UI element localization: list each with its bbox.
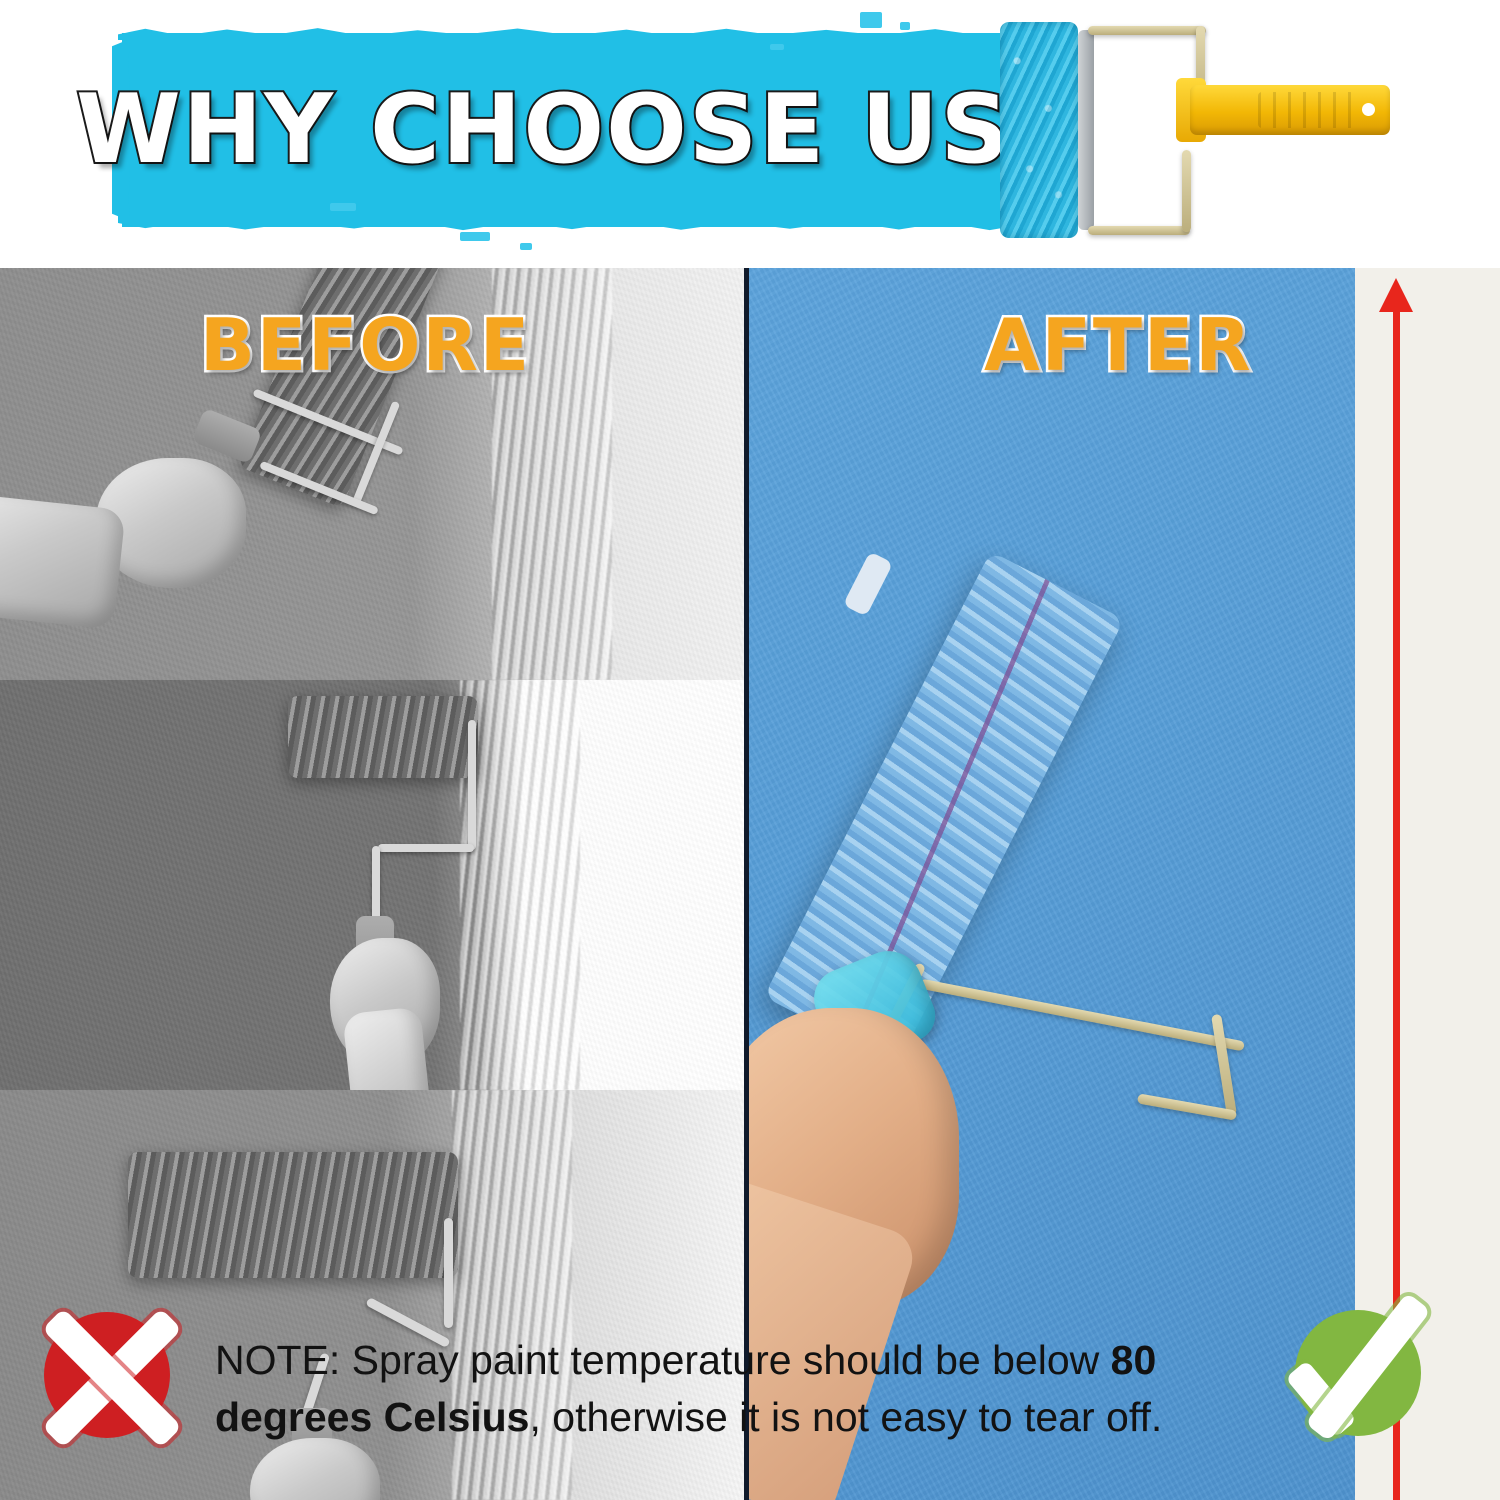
- red-x-mark-icon: [32, 1300, 182, 1450]
- paint-roller-cap: [1078, 30, 1094, 230]
- note-line2-bold: degrees Celsius: [215, 1394, 530, 1440]
- before-after-comparison: BEFORE AFTER: [0, 268, 1500, 1500]
- note-line-2: degrees Celsius, otherwise it is not eas…: [215, 1389, 1300, 1446]
- roller-nap-gray: [128, 1152, 458, 1278]
- paint-fleck: [460, 232, 490, 241]
- roller-nap-gray: [288, 696, 478, 778]
- roller-handle-ridges: [1258, 92, 1354, 128]
- after-panel: AFTER: [749, 268, 1355, 1500]
- before-label: BEFORE: [200, 303, 531, 387]
- note-line1-text: NOTE: Spray paint temperature should be …: [215, 1337, 1111, 1383]
- roller-handle-hole: [1362, 103, 1375, 116]
- green-check-mark-icon: [1283, 1298, 1433, 1448]
- note-line-1: NOTE: Spray paint temperature should be …: [215, 1332, 1300, 1389]
- roller-frame-wire: [1182, 150, 1191, 232]
- roller-frame-gray: [444, 1218, 453, 1328]
- header-banner-area: WHY CHOOSE US?: [0, 0, 1500, 268]
- after-label: AFTER: [984, 303, 1253, 387]
- paint-roller-icon: [1000, 22, 1078, 238]
- paint-fleck: [520, 243, 532, 250]
- forearm-gray: [0, 490, 126, 629]
- red-up-arrow-head: [1379, 278, 1413, 312]
- paint-fleck: [860, 12, 882, 28]
- page-title: WHY CHOOSE US?: [122, 44, 1022, 216]
- roller-frame-wire: [1088, 26, 1206, 35]
- before-photo-2: [0, 680, 747, 1090]
- paint-fleck: [900, 22, 910, 30]
- note-line1-bold: 80: [1111, 1337, 1157, 1383]
- roller-frame-gray: [468, 720, 476, 850]
- note-text: NOTE: Spray paint temperature should be …: [215, 1332, 1300, 1452]
- roller-frame-gray: [378, 844, 474, 852]
- note-line2-text: , otherwise it is not easy to tear off.: [530, 1394, 1163, 1440]
- roller-frame-wire: [1088, 226, 1190, 235]
- banner-bottom-edge: [118, 216, 1026, 232]
- spray-edge: [460, 680, 580, 1090]
